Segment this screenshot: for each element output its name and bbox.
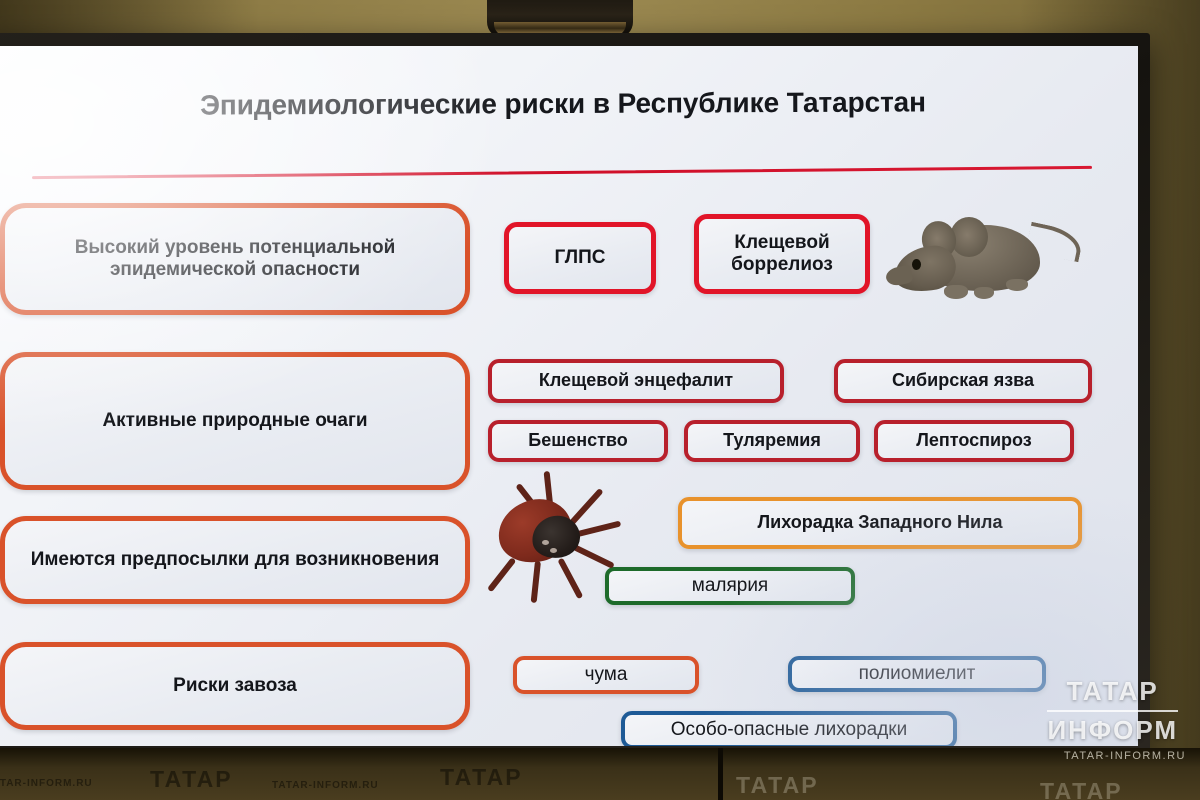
disease-box-leptospirosis[interactable]: Лептоспироз	[874, 420, 1074, 462]
bottom-strip: TATAR-INFORM.RU ТАТАР TATAR-INFORM.RU ТА…	[0, 748, 1200, 800]
category-box-natural-foci[interactable]: Активные природные очаги	[0, 352, 470, 490]
tick-leg	[531, 561, 541, 603]
strip-corner-url: TATAR-INFORM.RU	[1064, 750, 1186, 762]
presentation-slide: Эпидемиологические риски в Республике Та…	[0, 46, 1138, 746]
tick-photo	[486, 474, 620, 600]
tick-highlight	[542, 540, 549, 545]
disease-box-west-nile-fever[interactable]: Лихорадка Западного Нила	[678, 497, 1082, 549]
disease-box-encephalitis[interactable]: Клещевой энцефалит	[488, 359, 784, 403]
strip-watermark: ТАТАР	[736, 772, 819, 799]
strip-watermark: ТАТАР	[1040, 778, 1123, 800]
mouse-foot	[974, 287, 994, 299]
disease-box-malaria[interactable]: малярия	[605, 567, 855, 605]
disease-box-borreliosis[interactable]: Клещевой боррелиоз	[694, 214, 870, 294]
disease-box-plague[interactable]: чума	[513, 656, 699, 694]
tick-leg	[573, 544, 615, 569]
title-underline	[32, 166, 1092, 179]
disease-box-tularemia[interactable]: Туляремия	[684, 420, 860, 462]
disease-box-rabies[interactable]: Бешенство	[488, 420, 668, 462]
tick-leg	[557, 558, 583, 600]
mouse-foot	[1006, 279, 1028, 291]
category-box-preconditions[interactable]: Имеются предпосылки для возникновения	[0, 516, 470, 604]
strip-watermark: ТАТАР	[440, 764, 523, 791]
mouse-photo	[888, 209, 1076, 313]
disease-box-poliomyelitis[interactable]: полиомиелит	[788, 656, 1046, 692]
strip-watermark: TATAR-INFORM.RU	[0, 778, 93, 789]
mouse-eye	[912, 259, 921, 270]
disease-box-anthrax[interactable]: Сибирская язва	[834, 359, 1092, 403]
category-box-import-risks[interactable]: Риски завоза	[0, 642, 470, 730]
photo-scene: Эпидемиологические риски в Республике Та…	[0, 0, 1200, 800]
page-title: Эпидемиологические риски в Республике Та…	[0, 85, 1138, 122]
tv-screen: Эпидемиологические риски в Республике Та…	[0, 46, 1138, 746]
tick-leg	[573, 520, 621, 537]
tick-leg	[487, 557, 516, 592]
disease-box-glps[interactable]: ГЛПС	[504, 222, 656, 294]
strip-watermark: ТАТАР	[150, 766, 233, 793]
disease-box-dangerous-fevers[interactable]: Особо-опасные лихорадки	[621, 711, 957, 746]
mouse-foot	[944, 285, 968, 299]
tick-highlight	[550, 548, 557, 553]
category-box-high-danger[interactable]: Высокий уровень потенциальной эпидемичес…	[0, 203, 470, 315]
strip-divider	[718, 748, 723, 800]
strip-watermark: TATAR-INFORM.RU	[272, 780, 379, 791]
